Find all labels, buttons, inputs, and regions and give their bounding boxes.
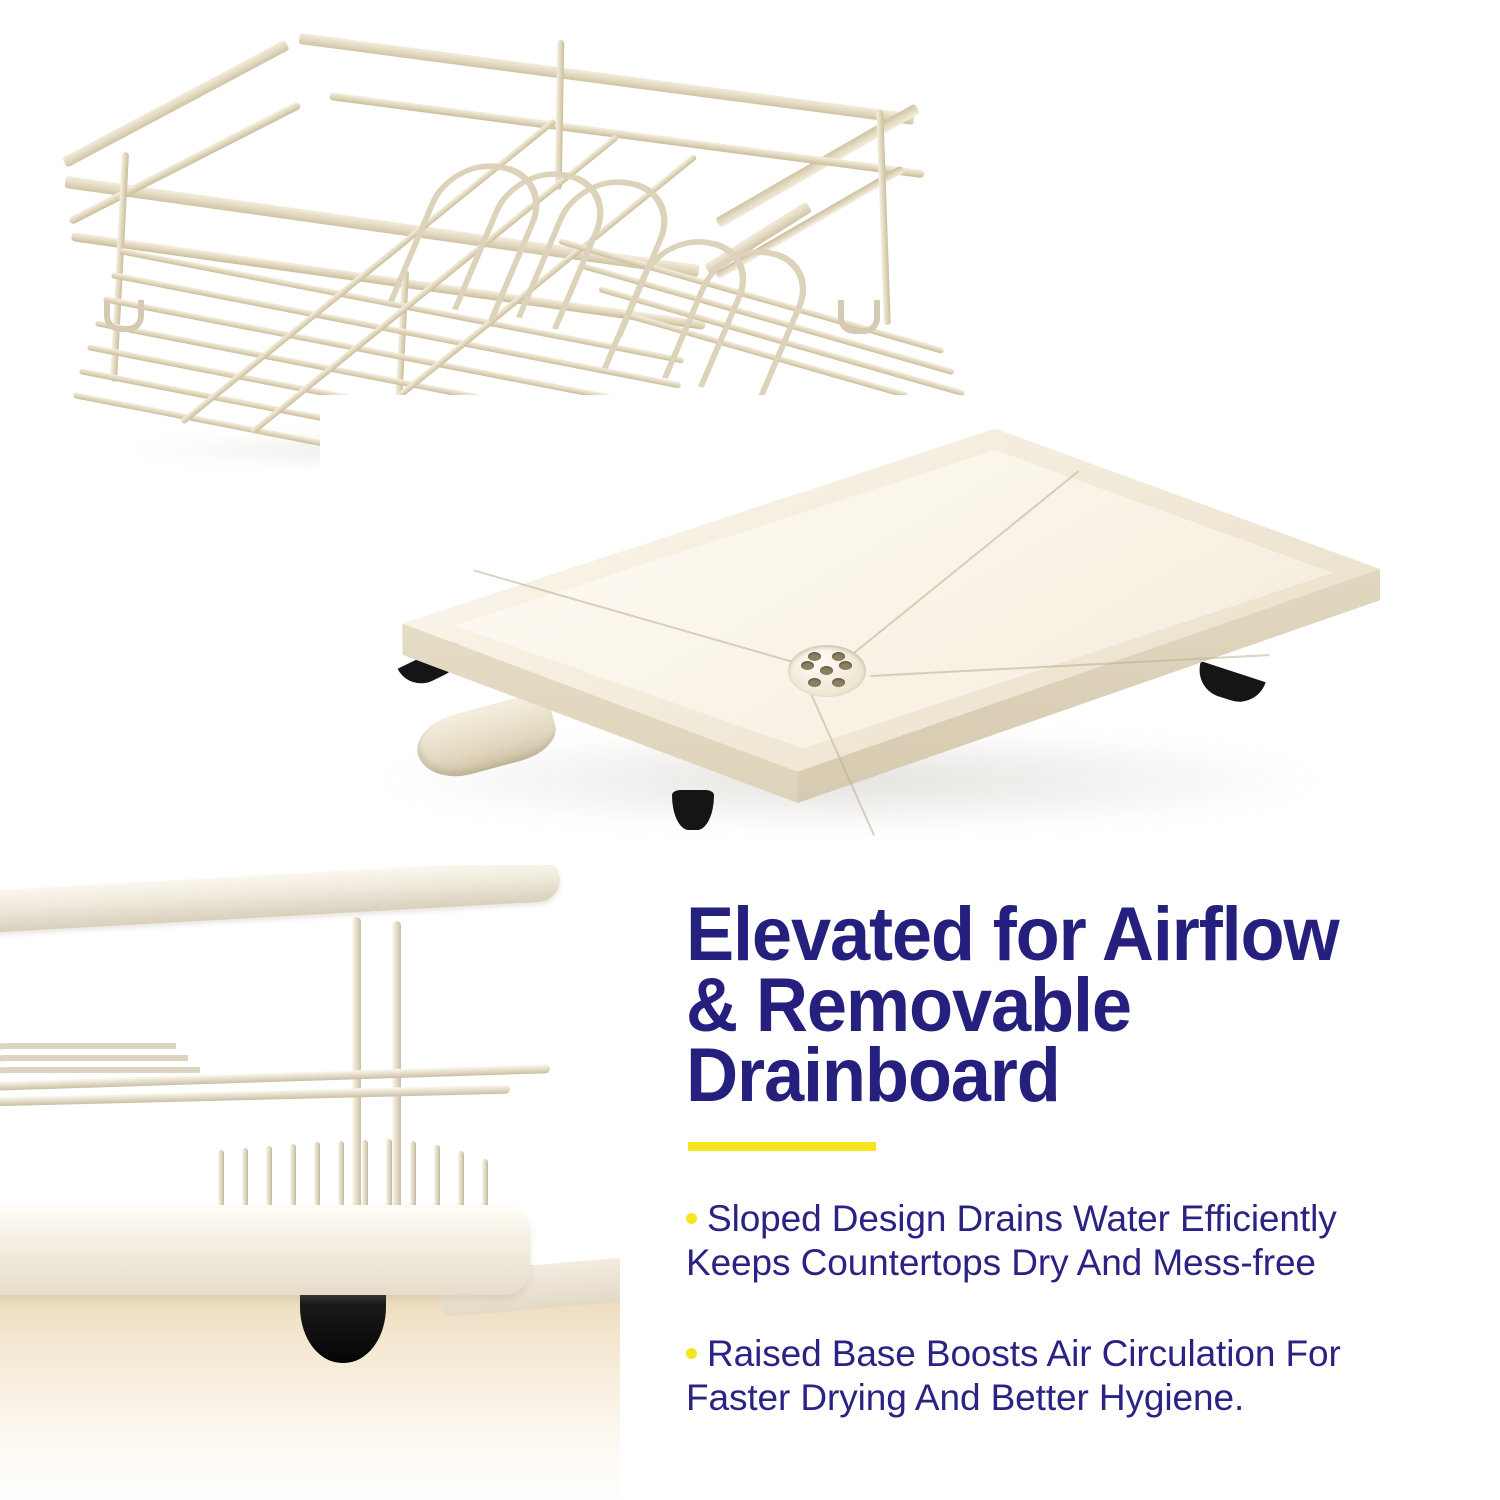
drain-hole [808,652,821,661]
basket-foot-right [838,300,880,334]
closeup-vertical-post-a [352,917,361,1217]
basket-post-midback [555,40,565,190]
basket-foot-left [104,300,144,332]
tray-drain [788,645,866,697]
bullet-dot-icon [686,1348,697,1359]
closeup-plate-hoop [0,1067,200,1205]
photo-removable-drainboard-tray [320,395,1400,865]
basket-post-right [876,110,890,325]
bullet-text: Sloped Design Drains Water Efficiently K… [686,1198,1337,1283]
drain-hole [808,678,821,687]
drain-hole [839,661,852,670]
bullet-text: Raised Base Boosts Air Circulation For F… [686,1333,1341,1418]
tray-body [340,413,1380,803]
basket-top-rail-back [299,33,915,125]
bullet-dot-icon [686,1213,697,1224]
product-feature-card: Elevated for Airflow & Removable Drainbo… [0,0,1500,1500]
yellow-divider-rule [688,1142,876,1151]
closeup-top-shelf [0,865,560,933]
closeup-drainboard-front-wall [0,1205,530,1295]
drain-hole [801,661,814,670]
feature-bullet-list: Sloped Design Drains Water Efficiently K… [686,1197,1386,1421]
drain-hole [832,652,845,661]
basket-top-rail-left [62,40,290,168]
page-title: Elevated for Airflow & Removable Drainbo… [686,900,1351,1112]
text-panel: Elevated for Airflow & Removable Drainbo… [686,900,1386,1421]
photo-elevated-base-closeup [0,865,620,1500]
drain-hole [820,666,833,675]
list-item: Raised Base Boosts Air Circulation For F… [686,1332,1386,1421]
drain-hole [832,678,845,687]
list-item: Sloped Design Drains Water Efficiently K… [686,1197,1386,1286]
